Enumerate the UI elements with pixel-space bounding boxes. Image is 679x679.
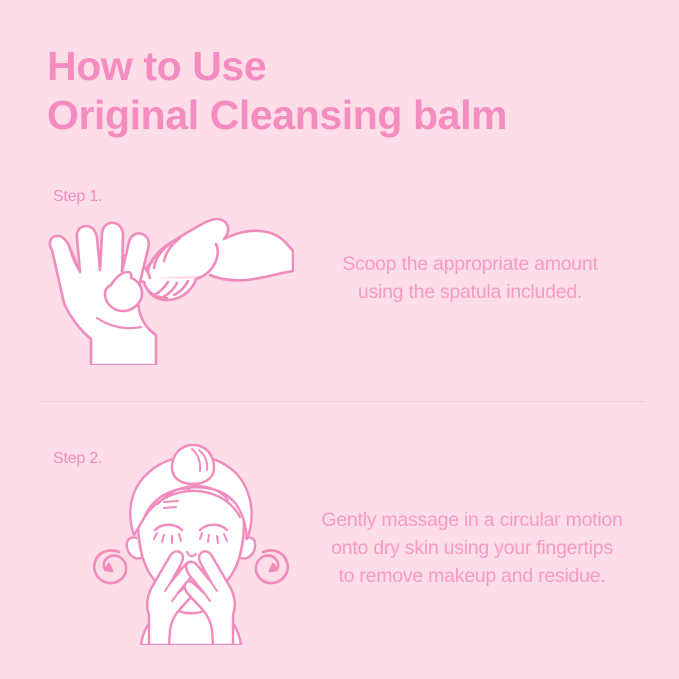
step-2-illustration bbox=[86, 440, 296, 645]
step-2-description-line-1: Gently massage in a circular motion bbox=[300, 506, 644, 534]
hair-bun bbox=[172, 445, 214, 484]
swirl-right-icon bbox=[256, 550, 288, 583]
step-1-illustration bbox=[44, 200, 294, 365]
section-divider bbox=[38, 401, 645, 402]
step-1-description-line-1: Scoop the appropriate amount bbox=[305, 250, 635, 278]
step-1-description-line-2: using the spatula included. bbox=[305, 278, 635, 306]
step-2-description-line-2: onto dry skin using your fingertips bbox=[300, 534, 644, 562]
how-to-use-panel: How to Use Original Cleansing balm Step … bbox=[0, 0, 679, 679]
page-title: How to Use Original Cleansing balm bbox=[47, 42, 507, 140]
page-title-line-1: How to Use bbox=[47, 42, 507, 91]
page-title-line-2: Original Cleansing balm bbox=[47, 91, 507, 140]
step-1-description: Scoop the appropriate amount using the s… bbox=[305, 250, 635, 306]
step-2-description: Gently massage in a circular motion onto… bbox=[300, 506, 644, 590]
step-2-description-line-3: to remove makeup and residue. bbox=[300, 562, 644, 590]
swirl-left-icon bbox=[94, 550, 126, 583]
